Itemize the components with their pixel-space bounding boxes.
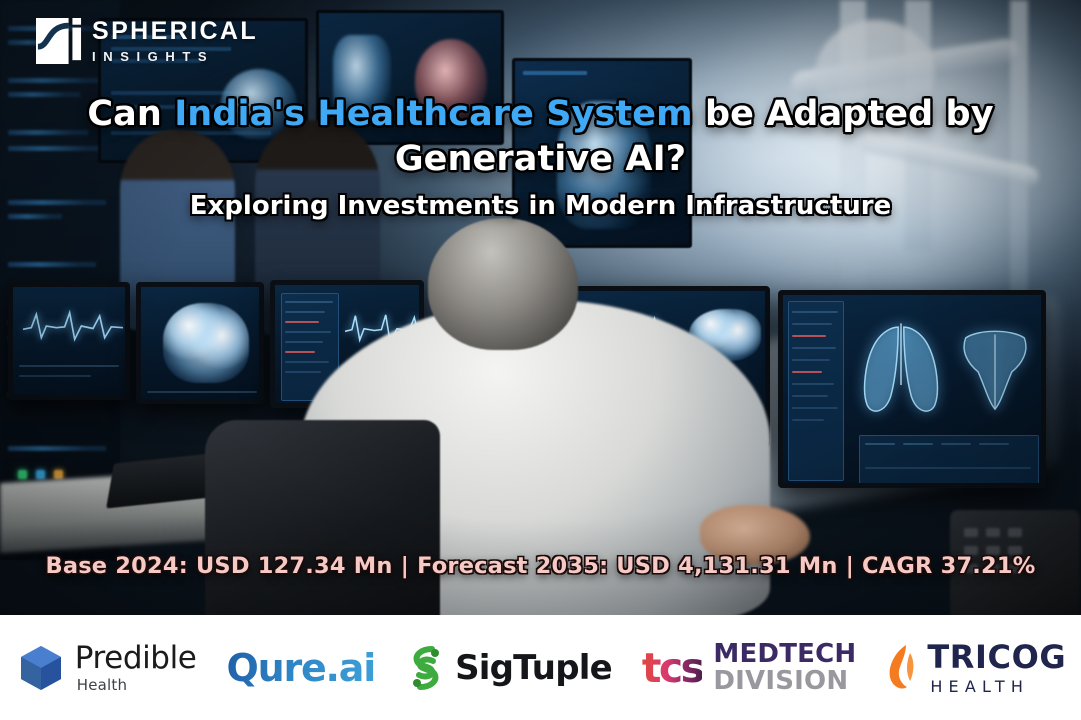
brand-wordmark: SPHERICAL INSIGHTS bbox=[92, 19, 258, 63]
desk-monitor-2 bbox=[136, 282, 264, 404]
headline-text-part1: Can bbox=[87, 94, 174, 134]
predible-sub: Health bbox=[77, 678, 197, 693]
desk-monitor-1 bbox=[8, 282, 130, 400]
tcs-division-label: DIVISION bbox=[713, 668, 856, 694]
tcs-wordmark: tcs bbox=[642, 644, 703, 692]
partner-logo-predible[interactable]: Predible Health bbox=[19, 643, 197, 693]
rack-led-amber bbox=[54, 470, 63, 479]
brain-scan-image bbox=[163, 303, 249, 383]
sigtuple-green-icon bbox=[407, 646, 445, 690]
stats-banner: Base 2024: USD 127.34 Mn | Forecast 2035… bbox=[0, 553, 1081, 579]
brand-name-secondary: INSIGHTS bbox=[92, 50, 258, 63]
subheadline: Exploring Investments in Modern Infrastr… bbox=[40, 191, 1041, 221]
headline-line-2: Generative AI? bbox=[40, 137, 1041, 182]
headline-text-part2: be Adapted by bbox=[693, 94, 994, 134]
stats-text: Base 2024: USD 127.34 Mn | Forecast 2035… bbox=[45, 553, 1035, 579]
tricog-sub: HEALTH bbox=[930, 679, 1066, 695]
blue-cube-icon bbox=[19, 644, 63, 692]
rack-led-green bbox=[18, 470, 27, 479]
brand-name-primary: SPHERICAL bbox=[92, 19, 258, 44]
partner-logo-sigtuple[interactable]: SigTuple bbox=[407, 646, 612, 690]
headline-line-1: Can India's Healthcare System be Adapted… bbox=[40, 92, 1041, 137]
rack-led-blue bbox=[36, 470, 45, 479]
ecg-waveform-1 bbox=[17, 301, 129, 351]
partner-logo-strip: Predible Health Qure.ai SigTuple tcs MED… bbox=[0, 615, 1081, 720]
predible-wordmark: Predible Health bbox=[75, 643, 197, 693]
tricog-flame-icon bbox=[884, 643, 918, 693]
predible-name: Predible bbox=[75, 643, 197, 674]
pelvis-3d-scan bbox=[955, 323, 1035, 417]
lung-xray-image bbox=[859, 319, 943, 423]
partner-logo-tricog[interactable]: TRICOG HEALTH bbox=[884, 641, 1066, 695]
sigtuple-name: SigTuple bbox=[455, 648, 612, 688]
tricog-wordmark: TRICOG HEALTH bbox=[927, 641, 1066, 695]
tricog-name: TRICOG bbox=[927, 641, 1066, 673]
spherical-insights-logo-mark bbox=[36, 18, 82, 64]
headline-block: Can India's Healthcare System be Adapted… bbox=[0, 92, 1081, 221]
partner-logo-tcs[interactable]: tcs MEDTECH DIVISION bbox=[642, 641, 856, 694]
headline-accent-text: India's Healthcare System bbox=[174, 94, 692, 134]
promo-banner: SPHERICAL INSIGHTS Can India's Healthcar… bbox=[0, 0, 1081, 720]
tcs-medtech-label: MEDTECH bbox=[713, 641, 856, 667]
partner-logo-qure[interactable]: Qure.ai bbox=[226, 646, 375, 690]
desk-monitor-5 bbox=[778, 290, 1046, 488]
tcs-division-text: MEDTECH DIVISION bbox=[713, 641, 856, 694]
doctor-head bbox=[428, 218, 578, 350]
qure-name: Qure.ai bbox=[226, 646, 375, 690]
brand-logo[interactable]: SPHERICAL INSIGHTS bbox=[36, 18, 258, 64]
